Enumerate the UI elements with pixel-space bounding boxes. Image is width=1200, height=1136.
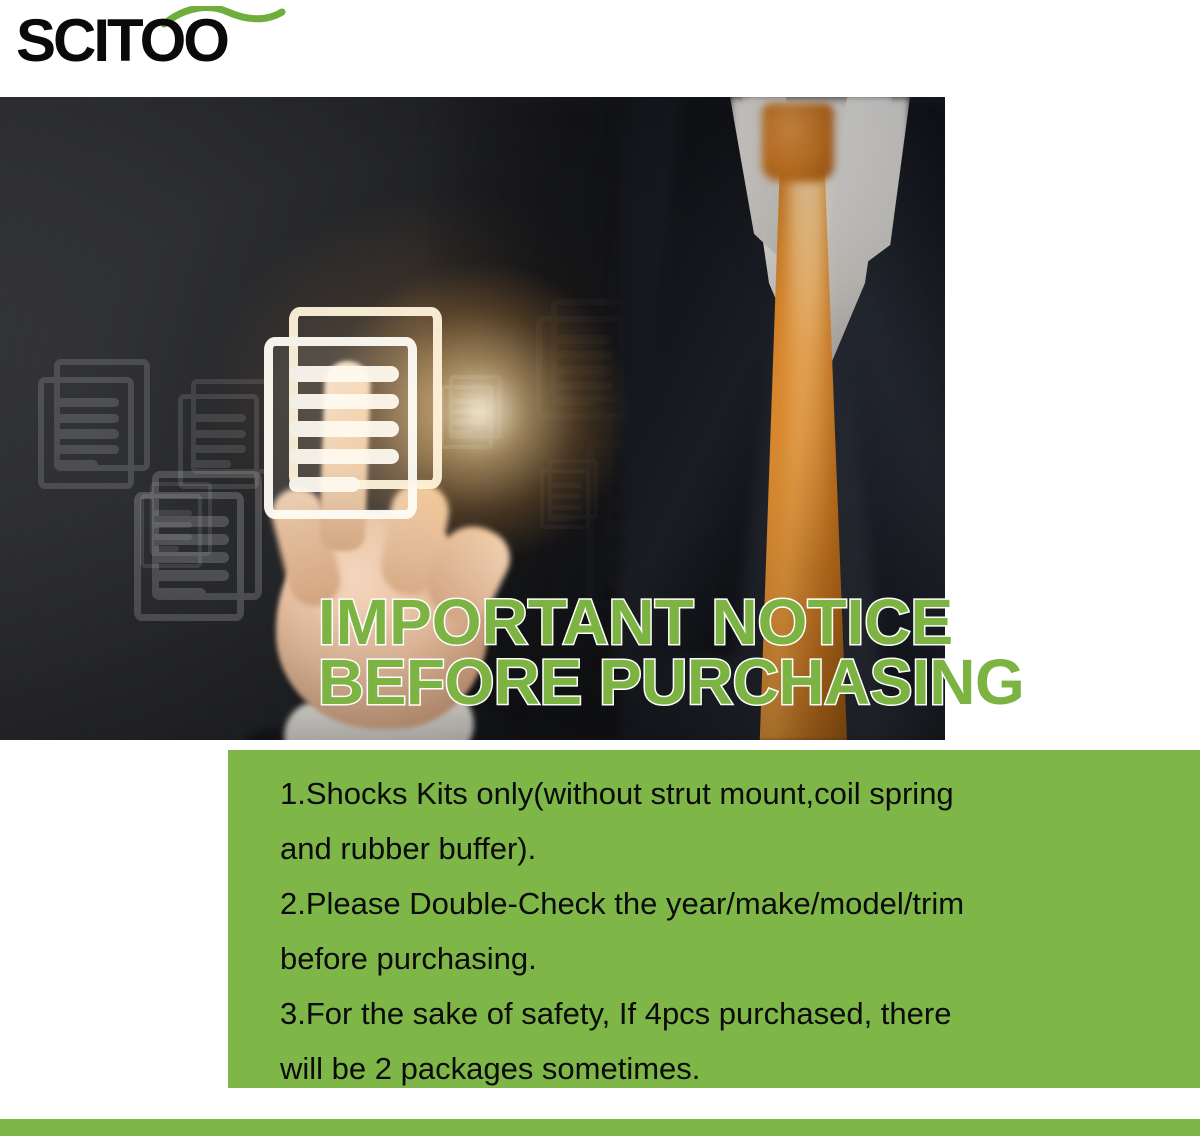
document-icon-highlighted	[264, 307, 442, 519]
notice-line: will be 2 packages sometimes.	[280, 1041, 1166, 1096]
notice-headline: IMPORTANT NOTICE BEFORE PURCHASING	[318, 592, 1198, 712]
notice-line: 2.Please Double-Check the year/make/mode…	[280, 876, 1166, 931]
logo-wordmark: SCITOO	[16, 7, 228, 68]
notice-box: 1.Shocks Kits only(without strut mount,c…	[228, 750, 1200, 1088]
headline-line-1: IMPORTANT NOTICE	[318, 592, 1198, 652]
notice-line: 3.For the sake of safety, If 4pcs purcha…	[280, 986, 1166, 1041]
bottom-accent-bar	[0, 1119, 1200, 1136]
headline-line-2: BEFORE PURCHASING	[318, 652, 1198, 712]
brand-logo: SCITOO	[14, 6, 324, 68]
notice-line: and rubber buffer).	[280, 821, 1166, 876]
notice-line: before purchasing.	[280, 931, 1166, 986]
notice-line: 1.Shocks Kits only(without strut mount,c…	[280, 766, 1166, 821]
